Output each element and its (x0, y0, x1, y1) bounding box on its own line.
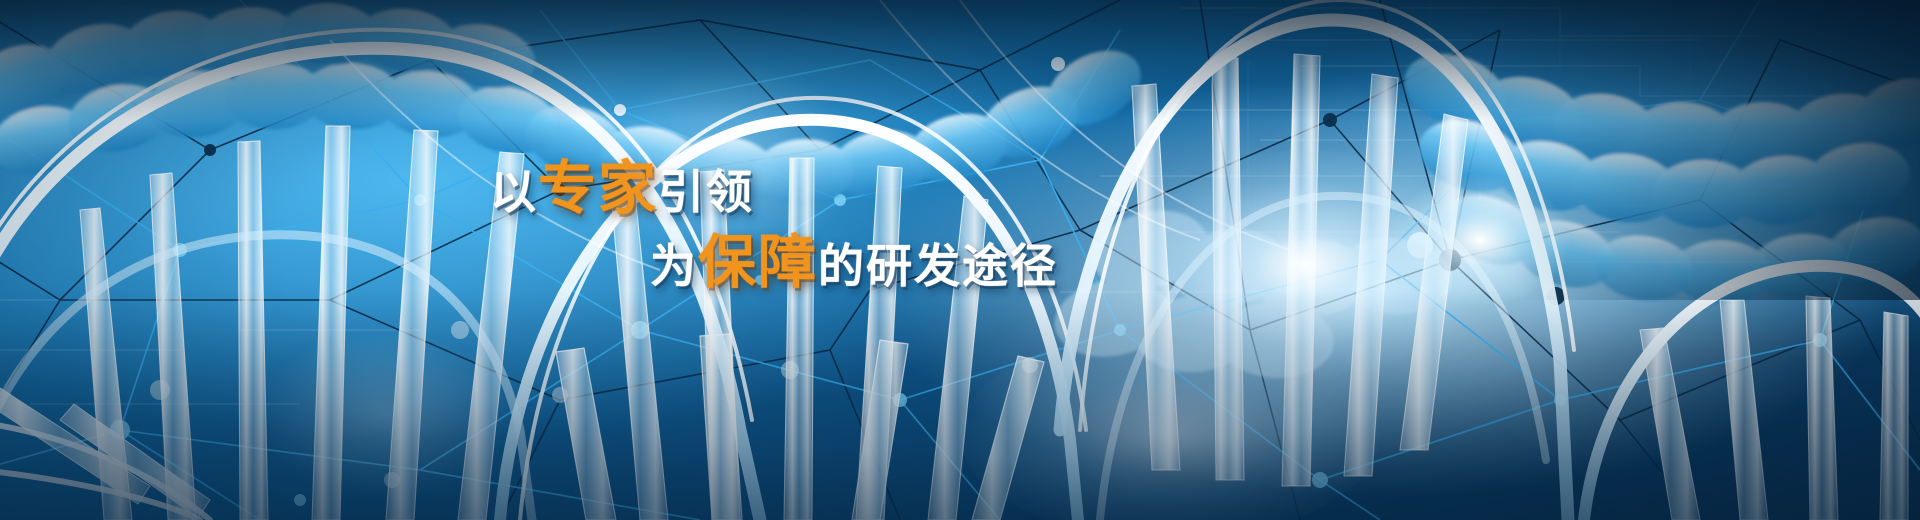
headline-line-2: 为保障的研发途径 (470, 234, 1170, 292)
headline-line1-highlight: 专家 (538, 156, 658, 221)
hero-banner: 以专家引领 为保障的研发途径 (0, 0, 1920, 520)
headline-line2-part1: 为 (650, 240, 698, 292)
banner-headline: 以专家引领 为保障的研发途径 (470, 160, 1170, 292)
headline-line1-part3: 引领 (658, 166, 754, 218)
headline-line-1: 以专家引领 (470, 160, 1170, 218)
headline-line2-highlight: 保障 (698, 230, 818, 295)
headline-line1-part1: 以 (490, 166, 538, 218)
headline-line2-part3: 的研发途径 (818, 240, 1058, 292)
